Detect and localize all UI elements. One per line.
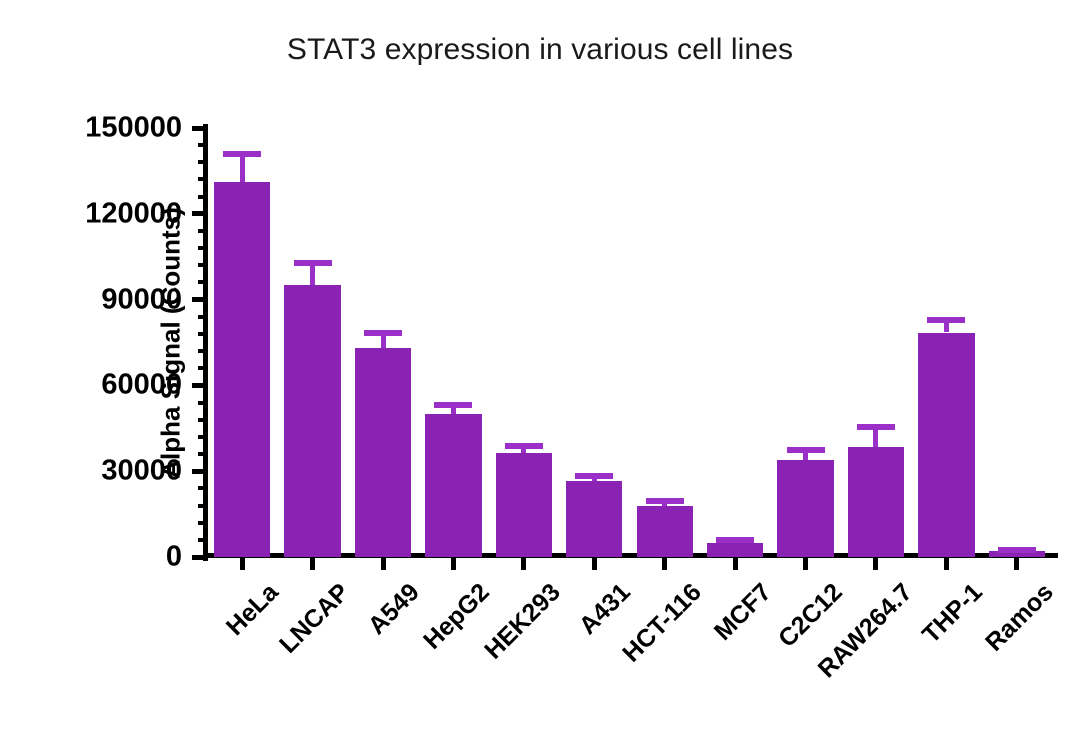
x-tick-label: A549: [363, 578, 426, 641]
error-bar-cap: [364, 330, 402, 336]
y-tick-minor: [198, 263, 207, 267]
bar[interactable]: [637, 506, 693, 557]
y-tick-label: 30000: [101, 455, 182, 488]
bar[interactable]: [707, 543, 763, 557]
x-tick: [944, 557, 949, 570]
x-tick-label: THP-1: [917, 578, 989, 650]
error-bar-stem: [240, 154, 245, 182]
x-tick: [451, 557, 456, 570]
y-tick-minor: [198, 366, 207, 370]
x-tick: [521, 557, 526, 570]
bar-group[interactable]: Ramos: [989, 128, 1045, 557]
y-tick-label: 90000: [101, 283, 182, 316]
x-tick: [381, 557, 386, 570]
x-tick: [662, 557, 667, 570]
y-tick-minor: [198, 418, 207, 422]
y-tick-minor: [198, 349, 207, 353]
y-tick-minor: [198, 315, 207, 319]
x-tick: [310, 557, 315, 570]
error-bar-stem: [310, 263, 315, 285]
error-bar-cap: [223, 151, 261, 157]
error-bar-cap: [294, 260, 332, 266]
y-tick-label: 120000: [85, 197, 182, 230]
bar[interactable]: [777, 460, 833, 557]
y-tick-label: 150000: [85, 112, 182, 145]
y-tick-major: [192, 383, 207, 388]
y-tick-minor: [198, 538, 207, 542]
bar-group[interactable]: A431: [566, 128, 622, 557]
y-tick-minor: [198, 177, 207, 181]
x-tick: [803, 557, 808, 570]
error-bar-cap: [434, 402, 472, 408]
y-tick-label: 0: [166, 541, 182, 574]
error-bar-cap: [505, 443, 543, 449]
bar-group[interactable]: HepG2: [425, 128, 481, 557]
bar[interactable]: [566, 481, 622, 557]
bar-group[interactable]: THP-1: [918, 128, 974, 557]
bar-group[interactable]: MCF7: [707, 128, 763, 557]
bar-group[interactable]: LNCAP: [284, 128, 340, 557]
x-tick: [592, 557, 597, 570]
y-tick-minor: [198, 452, 207, 456]
y-tick-minor: [198, 246, 207, 250]
y-tick-minor: [198, 401, 207, 405]
plot-area: 0300006000090000120000150000 HeLaLNCAPA5…: [207, 128, 1052, 557]
y-tick-major: [192, 126, 207, 131]
y-tick-minor: [198, 195, 207, 199]
y-tick-minor: [198, 486, 207, 490]
bar[interactable]: [918, 333, 974, 558]
y-tick-major: [192, 469, 207, 474]
y-tick-minor: [198, 160, 207, 164]
x-tick: [873, 557, 878, 570]
bar-group[interactable]: HeLa: [214, 128, 270, 557]
bar[interactable]: [214, 182, 270, 557]
bar-group[interactable]: C2C12: [777, 128, 833, 557]
y-tick-minor: [198, 435, 207, 439]
bar-group[interactable]: RAW264.7: [848, 128, 904, 557]
bar[interactable]: [496, 453, 552, 557]
bar-group[interactable]: HCT-116: [637, 128, 693, 557]
error-bar-cap: [787, 447, 825, 453]
y-tick-major: [192, 555, 207, 560]
error-bar-cap: [998, 547, 1036, 553]
chart-title: STAT3 expression in various cell lines: [0, 33, 1080, 67]
y-tick-major: [192, 297, 207, 302]
x-tick: [1014, 557, 1019, 570]
x-tick-label: MCF7: [709, 578, 778, 647]
bar[interactable]: [848, 447, 904, 557]
x-tick-label: HeLa: [221, 578, 285, 642]
y-tick-minor: [198, 229, 207, 233]
error-bar-cap: [716, 537, 754, 543]
bar[interactable]: [425, 414, 481, 557]
error-bar-cap: [857, 424, 895, 430]
y-tick-minor: [198, 504, 207, 508]
y-tick-major: [192, 211, 207, 216]
error-bar-cap: [927, 317, 965, 323]
error-bar-cap: [575, 473, 613, 479]
error-bar-cap: [646, 498, 684, 504]
y-tick-minor: [198, 280, 207, 284]
bar-group[interactable]: A549: [355, 128, 411, 557]
error-bar-stem: [873, 427, 878, 447]
x-tick: [733, 557, 738, 570]
x-tick-label: Ramos: [980, 578, 1059, 657]
y-tick-minor: [198, 521, 207, 525]
y-axis-title: Alpha Signal (Counts): [155, 207, 186, 479]
bar-group[interactable]: HEK293: [496, 128, 552, 557]
x-tick-label: A431: [574, 578, 637, 641]
x-tick-label: HEK293: [479, 578, 566, 665]
bar[interactable]: [284, 285, 340, 557]
bar[interactable]: [355, 348, 411, 557]
y-axis-title-container: Alpha Signal (Counts): [22, 128, 66, 557]
x-tick-label: LNCAP: [274, 578, 355, 659]
chart-figure: STAT3 expression in various cell lines A…: [0, 0, 1080, 742]
y-tick-minor: [198, 332, 207, 336]
y-tick-label: 60000: [101, 369, 182, 402]
x-tick: [240, 557, 245, 570]
y-tick-minor: [198, 143, 207, 147]
